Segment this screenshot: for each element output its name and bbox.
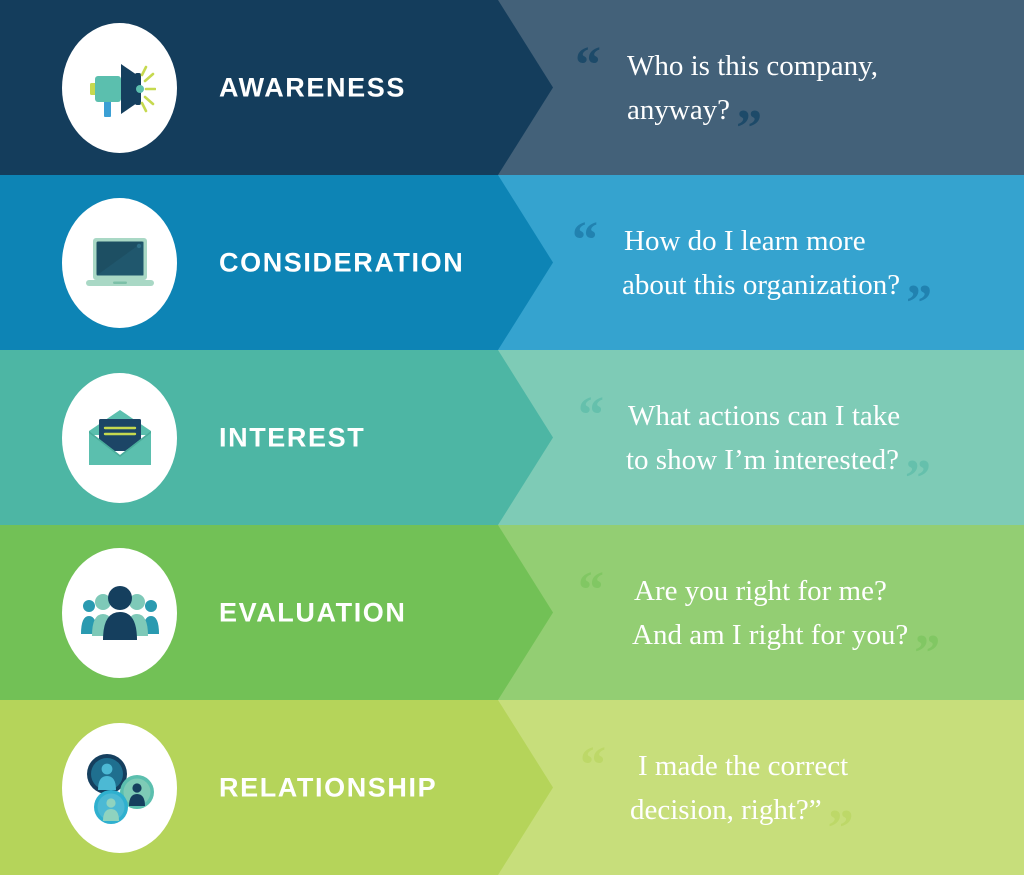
- stage-quote-evaluation: “Are you right for me? And am I right fo…: [578, 568, 998, 656]
- close-quote-mark: ”: [736, 100, 762, 157]
- close-quote-mark: ”: [914, 625, 940, 682]
- stage-quote-interest: “What actions can I take to show I’m int…: [578, 393, 998, 481]
- quote-line-2: about this organization?”: [572, 263, 998, 307]
- quote-text-1: Who is this company,: [627, 49, 878, 81]
- icon-disc-interest: [62, 373, 177, 503]
- quote-text-2: to show I’m interested?: [626, 444, 899, 476]
- stage-quote-consideration: “How do I learn more about this organiza…: [572, 218, 998, 306]
- laptop-icon: [82, 233, 158, 293]
- icon-disc-relationship: [62, 723, 177, 853]
- stage-label-consideration: CONSIDERATION: [219, 247, 464, 278]
- quote-text-1: How do I learn more: [624, 224, 866, 256]
- people-group-icon: [80, 584, 160, 642]
- stage-label-awareness: AWARENESS: [219, 72, 406, 103]
- stage-row-interest[interactable]: INTEREST “What actions can I take to sho…: [0, 350, 1024, 525]
- stage-label-evaluation: EVALUATION: [219, 597, 407, 628]
- quote-line-2: decision, right?””: [580, 788, 998, 832]
- quote-line-1: “How do I learn more: [572, 218, 998, 262]
- close-quote-mark: ”: [905, 450, 931, 507]
- quote-line-2: anyway?”: [575, 88, 998, 132]
- close-quote-mark: ”: [828, 800, 854, 857]
- quote-text-2: And am I right for you?: [632, 619, 908, 651]
- quote-text-2: decision, right?”: [630, 794, 822, 826]
- megaphone-icon: [84, 57, 156, 119]
- quote-text-2: anyway?: [627, 94, 730, 126]
- stage-row-relationship[interactable]: RELATIONSHIP “I made the correct decisio…: [0, 700, 1024, 875]
- quote-text-2: about this organization?: [622, 269, 900, 301]
- network-avatars-icon: [81, 750, 159, 826]
- stage-row-evaluation[interactable]: EVALUATION “Are you right for me? And am…: [0, 525, 1024, 700]
- stage-label-relationship: RELATIONSHIP: [219, 772, 437, 803]
- stage-row-consideration[interactable]: CONSIDERATION “How do I learn more about…: [0, 175, 1024, 350]
- icon-disc-awareness: [62, 23, 177, 153]
- quote-text-1: Are you right for me?: [634, 574, 887, 606]
- quote-text-1: What actions can I take: [628, 399, 900, 431]
- stage-row-awareness[interactable]: AWARENESS “Who is this company, anyway?”: [0, 0, 1024, 175]
- icon-disc-evaluation: [62, 548, 177, 678]
- quote-line-1: “I made the correct: [580, 743, 998, 787]
- stage-quote-relationship: “I made the correct decision, right?””: [580, 743, 998, 831]
- quote-line-1: “What actions can I take: [578, 393, 998, 437]
- stage-quote-awareness: “Who is this company, anyway?”: [575, 43, 998, 131]
- quote-line-1: “Are you right for me?: [578, 568, 998, 612]
- icon-disc-consideration: [62, 198, 177, 328]
- quote-line-2: And am I right for you?”: [578, 613, 998, 657]
- quote-line-2: to show I’m interested?”: [578, 438, 998, 482]
- quote-line-1: “Who is this company,: [575, 43, 998, 87]
- close-quote-mark: ”: [906, 275, 932, 332]
- buyer-journey-infographic: AWARENESS “Who is this company, anyway?”: [0, 0, 1024, 875]
- stage-label-interest: INTEREST: [219, 422, 365, 453]
- quote-text-1: I made the correct: [638, 749, 848, 781]
- envelope-icon: [83, 407, 157, 469]
